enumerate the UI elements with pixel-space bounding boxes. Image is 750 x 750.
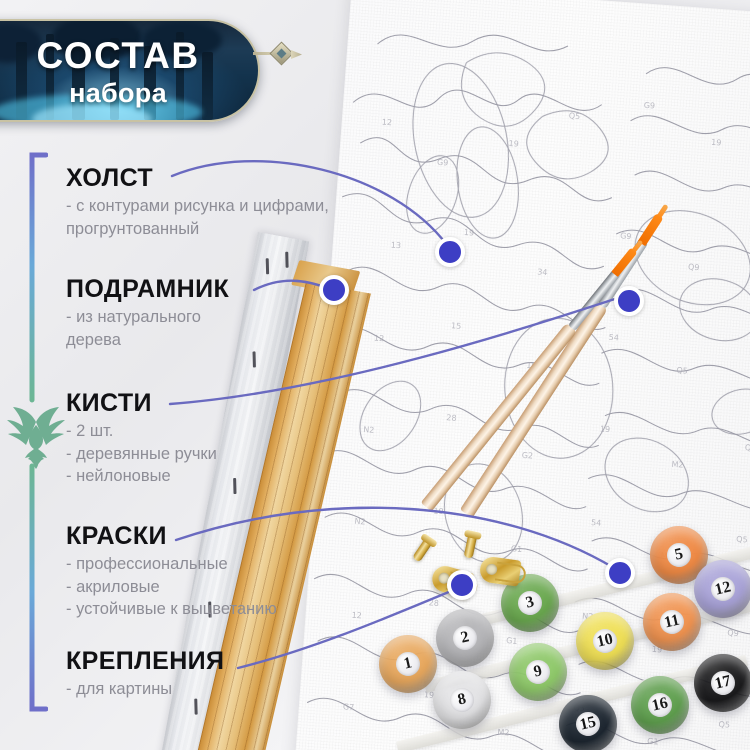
svg-text:G9: G9	[643, 101, 655, 111]
item-podramnik: ПОДРАМНИК - из натурального дерева	[66, 276, 229, 351]
item-heading: КИСТИ	[66, 390, 217, 416]
item-kisti: КИСТИ - 2 шт. - деревянные ручки - нейло…	[66, 390, 217, 487]
paint-pot-17: 17	[694, 654, 750, 712]
svg-text:Q9: Q9	[727, 628, 739, 638]
bullet: дерева	[66, 329, 229, 351]
staple	[194, 699, 197, 715]
svg-text:Q5: Q5	[676, 366, 688, 376]
svg-text:28: 28	[446, 413, 457, 423]
paint-pot-number: 17	[709, 669, 738, 698]
svg-text:13: 13	[391, 241, 402, 251]
marker-paints	[605, 558, 635, 588]
svg-text:G1: G1	[511, 544, 523, 554]
svg-text:12: 12	[381, 118, 392, 128]
svg-text:Q5: Q5	[736, 535, 748, 545]
svg-text:M2: M2	[497, 728, 510, 738]
staple	[266, 258, 269, 274]
item-kraski: КРАСКИ - профессиональные - акриловые - …	[66, 523, 277, 620]
paint-pot-8: 8	[433, 671, 491, 729]
banner-subtitle: набора	[0, 78, 258, 109]
svg-text:Q5: Q5	[568, 111, 580, 121]
paint-pot-16: 16	[631, 676, 689, 734]
paint-pot-number: 11	[658, 608, 687, 637]
svg-text:12: 12	[351, 611, 362, 621]
marker-stretcher	[319, 275, 349, 305]
paint-pot-number: 2	[451, 624, 480, 653]
bullet: - из натурального	[66, 306, 229, 328]
svg-text:15: 15	[451, 321, 462, 331]
bullet: - для картины	[66, 678, 224, 700]
paint-pot-number: 3	[516, 589, 545, 618]
paint-pot-11: 11	[643, 593, 701, 651]
svg-text:G9: G9	[620, 231, 632, 241]
svg-text:G7: G7	[343, 702, 355, 712]
paint-pot-number: 1	[394, 650, 423, 679]
svg-text:G9: G9	[437, 158, 449, 168]
paint-pot-number: 16	[646, 691, 675, 720]
svg-text:54: 54	[591, 518, 602, 528]
paint-pot-number: 15	[574, 710, 603, 739]
bullet: - деревянные ручки	[66, 443, 217, 465]
svg-text:G1: G1	[647, 737, 659, 747]
item-bullets: - с контурами рисунка и цифрами, прогрун…	[66, 195, 329, 240]
paint-pot-9: 9	[509, 643, 567, 701]
ornate-finial-icon	[253, 41, 309, 67]
header-banner: СОСТАВ набора	[0, 19, 260, 122]
svg-text:Q5: Q5	[718, 720, 730, 730]
marker-mounts	[447, 570, 477, 600]
paint-pot-number: 10	[591, 627, 620, 656]
item-bullets: - профессиональные - акриловые - устойчи…	[66, 553, 277, 620]
svg-text:19: 19	[600, 424, 611, 434]
bullet: - 2 шт.	[66, 420, 217, 442]
bullet: - нейлоновые	[66, 465, 217, 487]
bullet: прогрунтованный	[66, 218, 329, 240]
paint-pot-10: 10	[576, 612, 634, 670]
item-holst: ХОЛСТ - с контурами рисунка и цифрами, п…	[66, 165, 329, 240]
item-heading: ХОЛСТ	[66, 165, 329, 191]
marker-brushes	[614, 286, 644, 316]
svg-text:G2: G2	[521, 451, 533, 461]
paint-pot-1: 1	[379, 635, 437, 693]
svg-text:N2: N2	[354, 517, 366, 527]
bracket-top-arm	[32, 155, 46, 400]
item-bullets: - 2 шт. - деревянные ручки - нейлоновые	[66, 420, 217, 487]
banner-forest-art: СОСТАВ набора	[0, 19, 260, 122]
svg-text:28: 28	[428, 598, 439, 608]
svg-text:Q9: Q9	[745, 443, 750, 453]
item-heading: КРАСКИ	[66, 523, 277, 549]
paint-pot-2: 2	[436, 609, 494, 667]
svg-text:19: 19	[464, 228, 475, 238]
bullet: - устойчивые к выцветанию	[66, 598, 277, 620]
svg-text:34: 34	[537, 267, 548, 277]
item-heading: ПОДРАМНИК	[66, 276, 229, 302]
paint-pot-number: 8	[448, 686, 477, 715]
svg-text:12: 12	[374, 334, 385, 344]
banner-title: СОСТАВ	[0, 35, 258, 77]
svg-text:Q9: Q9	[688, 262, 700, 272]
svg-text:19: 19	[508, 139, 519, 149]
staple	[285, 252, 288, 268]
svg-text:54: 54	[608, 333, 619, 343]
svg-text:M2: M2	[671, 460, 684, 470]
bullet: - профессиональные	[66, 553, 277, 575]
item-bullets: - для картины	[66, 678, 224, 700]
item-heading: КРЕПЛЕНИЯ	[66, 648, 224, 674]
paint-pot-15: 15	[559, 695, 617, 750]
svg-text:19: 19	[711, 138, 722, 148]
paint-pot-number: 5	[665, 541, 694, 570]
infographic-root: 12G919 Q5G919 Q91319 34G9Q9 191215 1954Q…	[0, 0, 750, 750]
paint-pot-12: 12	[694, 560, 750, 618]
bullet: - акриловые	[66, 576, 277, 598]
bracket-bottom-arm	[32, 466, 46, 709]
item-krepleniya: КРЕПЛЕНИЯ - для картины	[66, 648, 224, 701]
staple	[253, 351, 256, 367]
svg-text:G1: G1	[506, 636, 518, 646]
svg-text:19: 19	[433, 506, 444, 516]
marker-canvas	[435, 237, 465, 267]
paint-pot-number: 12	[709, 575, 738, 604]
staple	[233, 478, 236, 494]
svg-text:N2: N2	[363, 425, 375, 435]
paint-pot-number: 9	[524, 658, 553, 687]
item-bullets: - из натурального дерева	[66, 306, 229, 351]
bullet: - с контурами рисунка и цифрами,	[66, 195, 329, 217]
winged-ornament-icon	[4, 398, 68, 470]
